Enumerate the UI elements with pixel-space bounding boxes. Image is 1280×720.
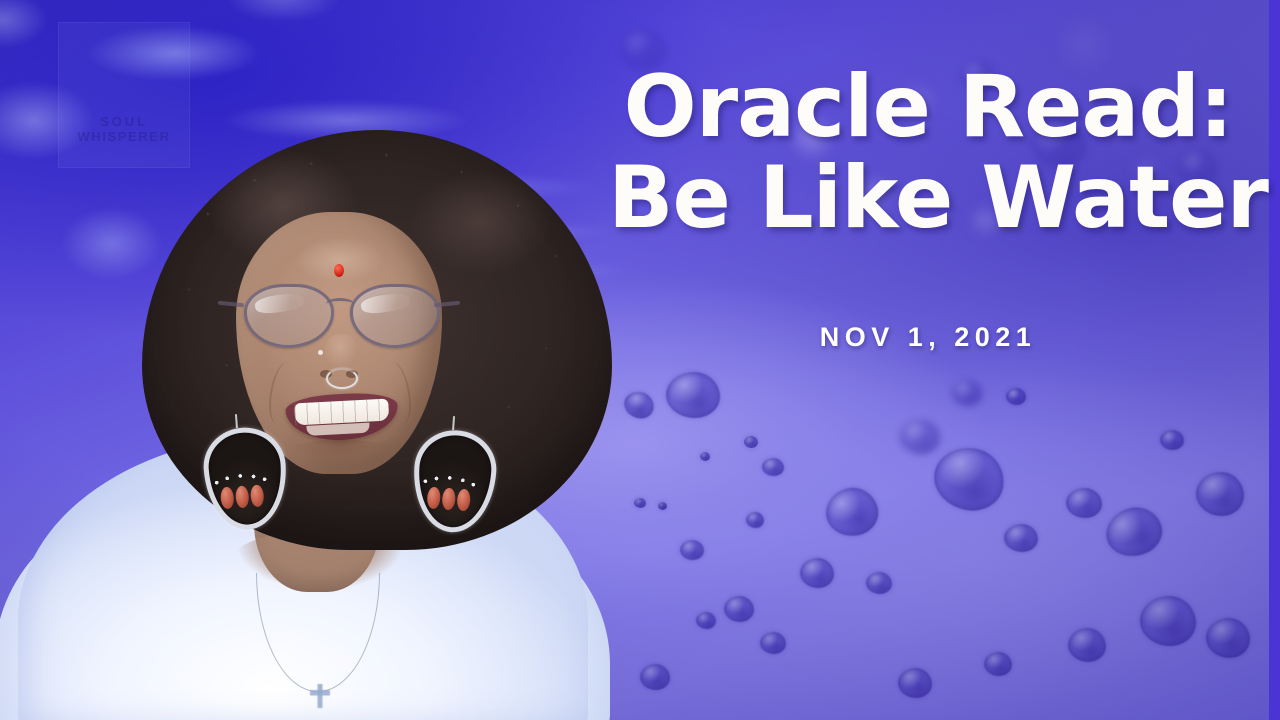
- bindi-icon: [334, 264, 344, 277]
- earring-beads-left: [217, 484, 267, 511]
- nose-ring-icon: [326, 368, 358, 389]
- glasses-bridge: [326, 298, 354, 310]
- nose-stud-icon: [318, 350, 323, 355]
- video-thumbnail: SOUL WHISPERER: [0, 0, 1280, 720]
- left-lens: [244, 284, 334, 348]
- lower-teeth: [307, 423, 370, 435]
- presenter-portrait: [0, 80, 620, 720]
- date-label: NOV 1, 2021: [608, 322, 1248, 353]
- right-edge-strip: [1269, 0, 1280, 720]
- necklace-pendant: [310, 684, 330, 708]
- title-line-2: Be Like Water: [608, 153, 1248, 244]
- title-line-1: Oracle Read:: [608, 62, 1248, 153]
- chin-shadow: [288, 440, 396, 462]
- upper-teeth: [294, 399, 389, 425]
- earring-beads-right: [423, 486, 473, 513]
- earring-left: [201, 422, 280, 523]
- title-block: Oracle Read: Be Like Water: [608, 62, 1248, 244]
- earring-right: [411, 424, 490, 525]
- right-lens: [350, 284, 440, 348]
- smiling-mouth: [285, 391, 399, 443]
